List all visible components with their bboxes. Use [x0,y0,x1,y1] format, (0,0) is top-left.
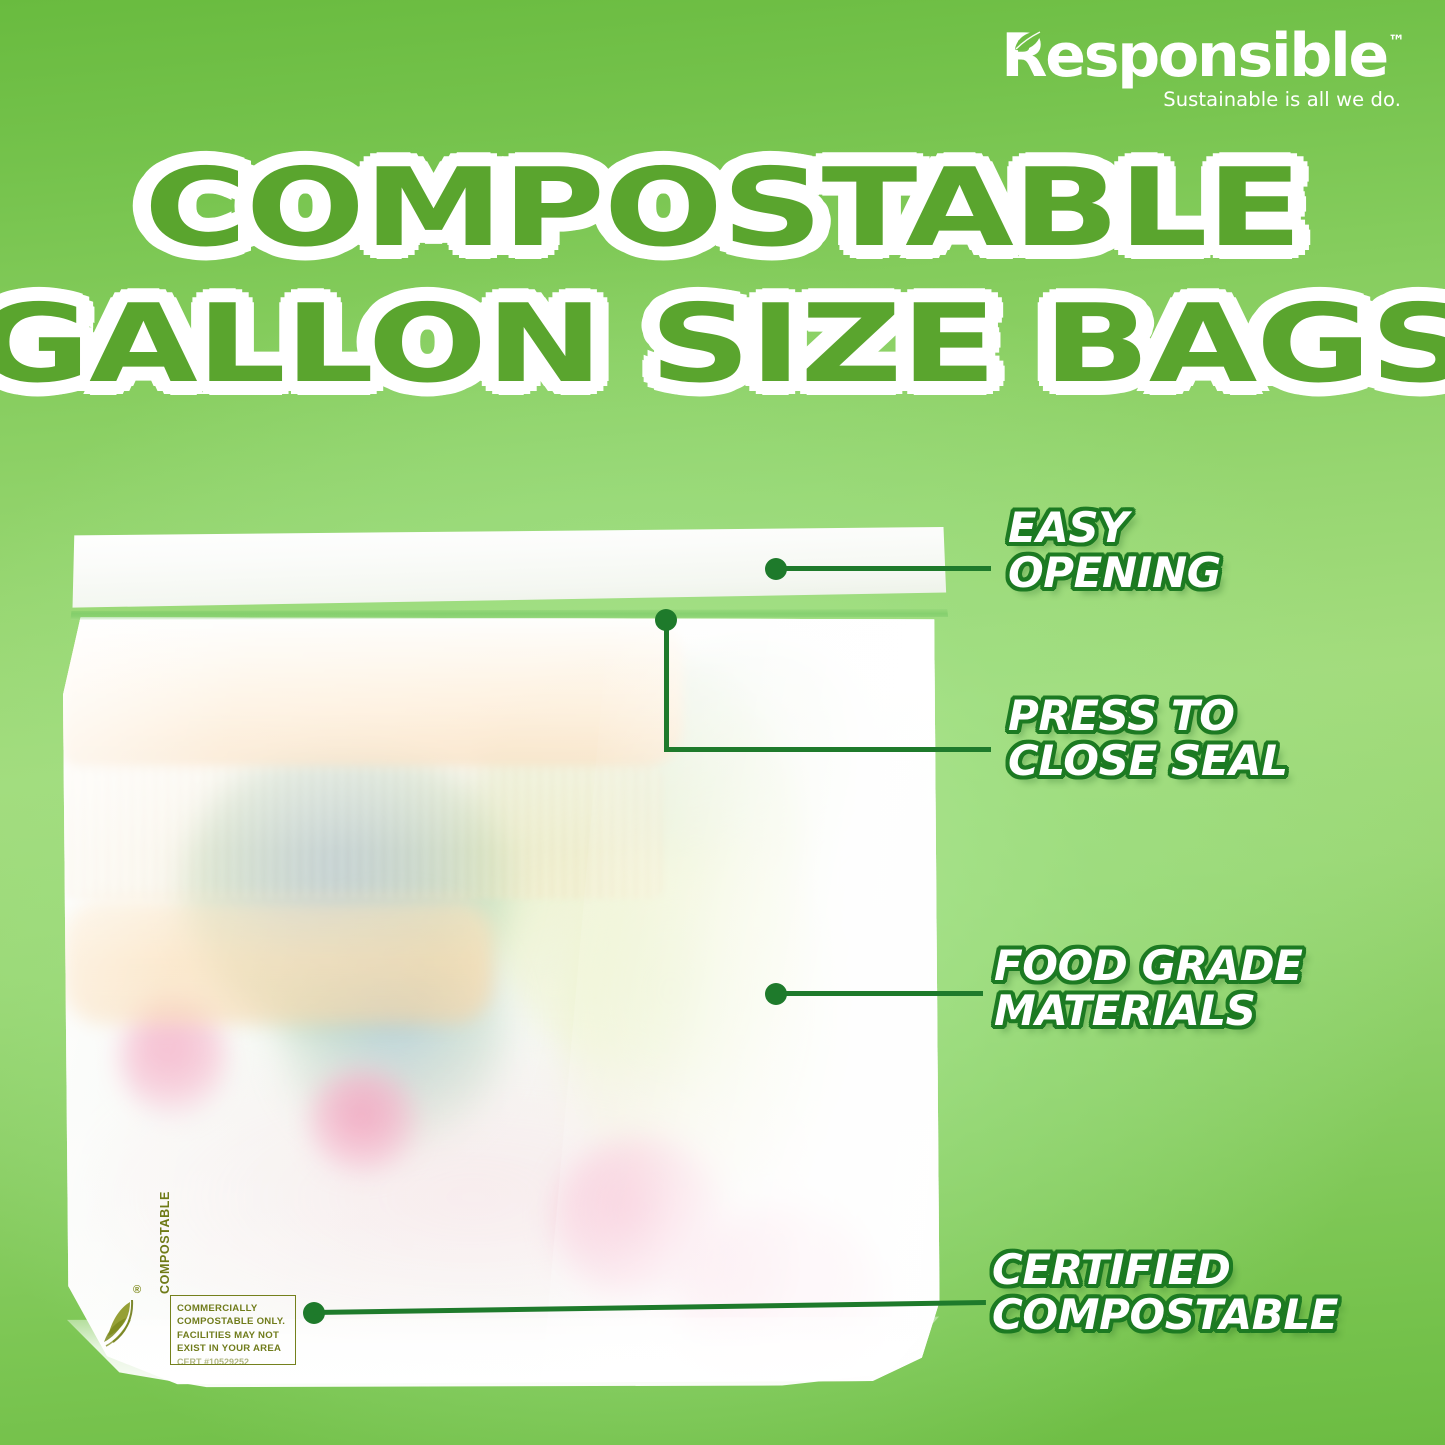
brand-logo-wordmark-row: Responsible ™ [1001,28,1405,86]
callout-press-to-close-seal-line-2: CLOSE SEAL [1008,739,1288,784]
registered-mark: ® [133,1284,141,1296]
callout-easy-opening: EASY OPENING [1008,506,1221,595]
brand-logo-wordmark: Responsible [1001,28,1387,86]
brand-logo: Responsible ™ Sustainable is all we do. [1001,28,1405,111]
callout-food-grade-materials-line-1: FOOD GRADE [994,944,1302,989]
bag-press-to-close-seal [67,609,949,620]
corn-contents-2 [63,899,493,1024]
trademark-mark: ™ [1388,34,1405,51]
bag-top-flap [69,527,947,611]
callout-food-grade-materials: FOOD GRADE MATERIALS [994,944,1302,1033]
cert-line-1: COMMERCIALLY [177,1302,290,1315]
brand-tagline: Sustainable is all we do. [1001,88,1401,111]
callout-certified-compostable-line-1: CERTIFIED [992,1248,1338,1293]
cert-arc-label: COMPOSTABLE [158,1264,238,1294]
cert-line-2: COMPOSTABLE ONLY. [177,1315,290,1328]
headline-line-2: GALLON SIZE BAGS [0,291,1445,399]
cert-line-5: CERT #10529252 [177,1356,290,1369]
cert-disclaimer-box: COMMERCIALLY COMPOSTABLE ONLY. FACILITIE… [170,1295,296,1365]
brand-logo-word-text: Responsible [1001,21,1387,91]
headline-line-1: COMPOSTABLE [0,155,1445,263]
callout-easy-opening-line-1: EASY [1008,506,1221,551]
callout-press-to-close-seal-line-1: PRESS TO [1008,694,1288,739]
callout-certified-compostable: CERTIFIED COMPOSTABLE [992,1248,1338,1337]
compostable-cert-badge: ® COMPOSTABLE COMMERCIALLY COMPOSTABLE O… [98,1282,298,1374]
radish-contents-2 [308,1069,418,1174]
callout-press-to-close-seal: PRESS TO CLOSE SEAL [1008,694,1288,783]
corn-kernel-texture [63,767,663,899]
cert-line-3: FACILITIES MAY NOT [177,1329,290,1342]
corn-contents [63,617,683,767]
callout-easy-opening-line-2: OPENING [1008,551,1221,596]
callout-certified-compostable-line-2: COMPOSTABLE [992,1293,1338,1338]
cert-line-4: EXIST IN YOUR AREA [177,1342,290,1355]
product-marketing-poster: Responsible ™ Sustainable is all we do. … [0,0,1445,1445]
callout-food-grade-materials-line-2: MATERIALS [994,989,1302,1034]
bpi-compostable-logo-icon [100,1296,146,1358]
page-title: COMPOSTABLE GALLON SIZE BAGS [0,155,1445,399]
